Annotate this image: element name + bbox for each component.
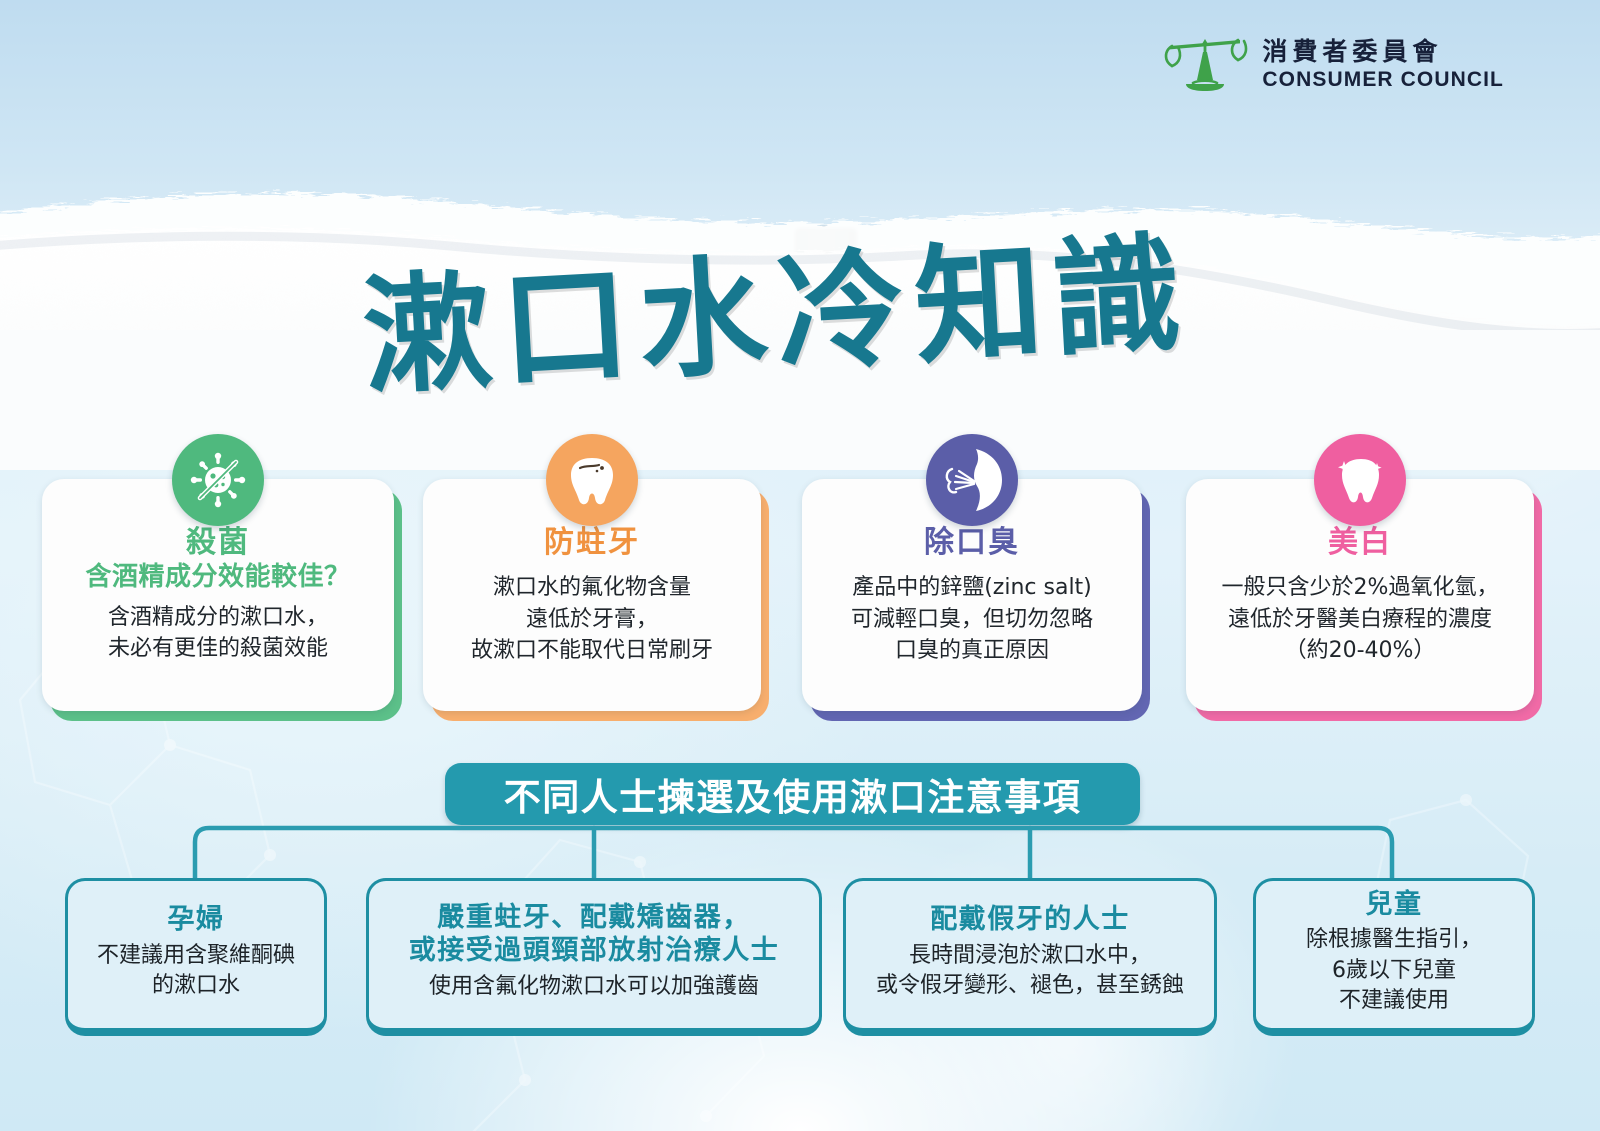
advice-card-title: 孕婦 — [168, 904, 225, 937]
advice-card-pregnant: 孕婦 不建議用含聚維酮碘 的漱口水 — [65, 878, 327, 1036]
consumer-council-logo: 消費者委員會 CONSUMER COUNCIL — [1162, 33, 1504, 95]
fact-card-anti-cavity: 防蛀牙 漱口水的氟化物含量 遠低於牙膏， 故漱口不能取代日常刷牙 — [423, 479, 761, 711]
advice-card-dentures: 配戴假牙的人士 長時間浸泡於漱口水中， 或令假牙變形、褪色，甚至銹蝕 — [843, 878, 1217, 1036]
fact-card-whitening: 美白 一般只含少於2%過氧化氫， 遠低於牙醫美白療程的濃度 （約20-40%） — [1186, 479, 1534, 711]
fact-card-body: 含酒精成分的漱口水， 未必有更佳的殺菌效能 — [94, 602, 342, 664]
logo-name-english: CONSUMER COUNCIL — [1262, 69, 1504, 90]
fact-card-bad-breath: 除口臭 產品中的鋅鹽(zinc salt) 可減輕口臭，但切勿忽略 口臭的真正原… — [802, 479, 1142, 711]
fact-card-body: 產品中的鋅鹽(zinc salt) 可減輕口臭，但切勿忽略 口臭的真正原因 — [837, 572, 1107, 666]
scales-balance-icon — [1162, 33, 1248, 95]
infographic-root: 消費者委員會 CONSUMER COUNCIL 漱口水冷知識 — [0, 0, 1600, 1131]
decayed-tooth-icon — [546, 434, 638, 526]
advice-card-title: 兒童 — [1366, 889, 1423, 922]
fact-card-title: 防蛀牙 — [544, 525, 640, 560]
advice-card-severe-decay: 嚴重蛀牙、配戴矯齒器， 或接受過頭頸部放射治療人士 使用含氟化物漱口水可以加強護… — [366, 878, 822, 1036]
advice-card-body: 長時間浸泡於漱口水中， 或令假牙變形、褪色，甚至銹蝕 — [876, 941, 1184, 1002]
advice-card-children: 兒童 除根據醫生指引， 6歲以下兒童 不建議使用 — [1253, 878, 1535, 1036]
advice-card-row: 孕婦 不建議用含聚維酮碘 的漱口水 嚴重蛀牙、配戴矯齒器， 或接受過頭頸部放射治… — [0, 878, 1600, 1058]
whitening-tooth-sparkle-icon — [1314, 434, 1406, 526]
advice-card-body: 使用含氟化物漱口水可以加強護齒 — [429, 972, 759, 1002]
fact-card-body: 漱口水的氟化物含量 遠低於牙膏， 故漱口不能取代日常刷牙 — [457, 572, 727, 666]
fact-card-title: 除口臭 — [924, 525, 1020, 560]
fact-card-title: 美白 — [1328, 525, 1392, 560]
section-banner: 不同人士揀選及使用漱口注意事項 — [445, 763, 1140, 825]
logo-name-chinese: 消費者委員會 — [1262, 39, 1504, 64]
section-banner-label: 不同人士揀選及使用漱口注意事項 — [504, 767, 1082, 821]
advice-card-title: 嚴重蛀牙、配戴矯齒器， 或接受過頭頸部放射治療人士 — [409, 902, 780, 968]
fact-card-subtitle: 含酒精成分效能較佳？ — [85, 562, 350, 593]
fact-card-sterilize: 殺菌 含酒精成分效能較佳？ 含酒精成分的漱口水， 未必有更佳的殺菌效能 — [42, 479, 394, 711]
germ-crossed-out-icon — [172, 434, 264, 526]
advice-card-title: 配戴假牙的人士 — [930, 904, 1130, 937]
bad-breath-face-icon — [926, 434, 1018, 526]
fact-card-body: 一般只含少於2%過氧化氫， 遠低於牙醫美白療程的濃度 （約20-40%） — [1208, 572, 1513, 666]
advice-card-body: 除根據醫生指引， 6歲以下兒童 不建議使用 — [1306, 925, 1482, 1016]
fact-card-title: 殺菌 — [186, 525, 250, 560]
fact-card-row: 殺菌 含酒精成分效能較佳？ 含酒精成分的漱口水， 未必有更佳的殺菌效能 防蛀牙 — [0, 452, 1600, 727]
advice-card-body: 不建議用含聚維酮碘 的漱口水 — [97, 941, 295, 1002]
